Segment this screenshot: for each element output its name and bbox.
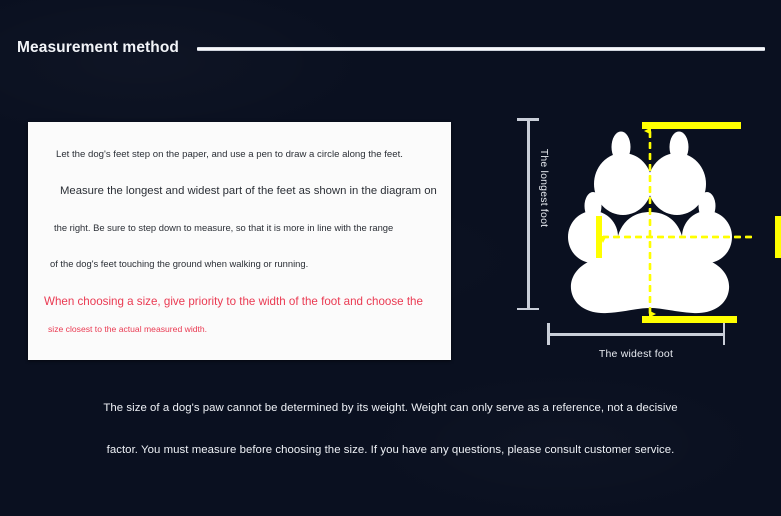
vertical-ruler-bottom-cap [517,308,539,311]
measurement-method-page: Measurement method Let the dog's feet st… [0,0,781,516]
instruction-warning-line-2: size closest to the actual measured widt… [48,323,433,336]
instruction-line-2: Measure the longest and widest part of t… [60,184,433,199]
footer-line-1: The size of a dog's paw cannot be determ… [0,400,781,417]
vertical-ruler-stem [527,118,530,310]
paw-graphic [545,104,755,334]
measurement-arrows [545,104,755,334]
footer-note: The size of a dog's paw cannot be determ… [0,400,781,459]
caliper-right-bar [775,216,781,258]
page-header: Measurement method [0,36,781,70]
vertical-ruler-icon [517,118,539,310]
page-title: Measurement method [17,36,179,60]
instruction-line-4: of the dog's feet touching the ground wh… [50,257,433,271]
instruction-line-3: the right. Be sure to step down to measu… [54,221,433,235]
instruction-line-1: Let the dog's feet step on the paper, an… [56,148,433,162]
footer-line-2: factor. You must measure before choosing… [0,442,781,459]
paw-measurement-diagram: The longest foot [500,90,772,375]
widest-foot-label: The widest foot [547,348,725,360]
horizontal-ruler-right-cap [723,323,726,345]
instructions-card-body: Let the dog's feet step on the paper, an… [28,122,451,360]
instruction-warning-line-1: When choosing a size, give priority to t… [44,294,433,309]
header-divider [197,47,765,51]
instructions-card: Let the dog's feet step on the paper, an… [28,122,451,360]
horizontal-ruler-stem [547,333,725,336]
horizontal-ruler-icon [547,323,725,345]
